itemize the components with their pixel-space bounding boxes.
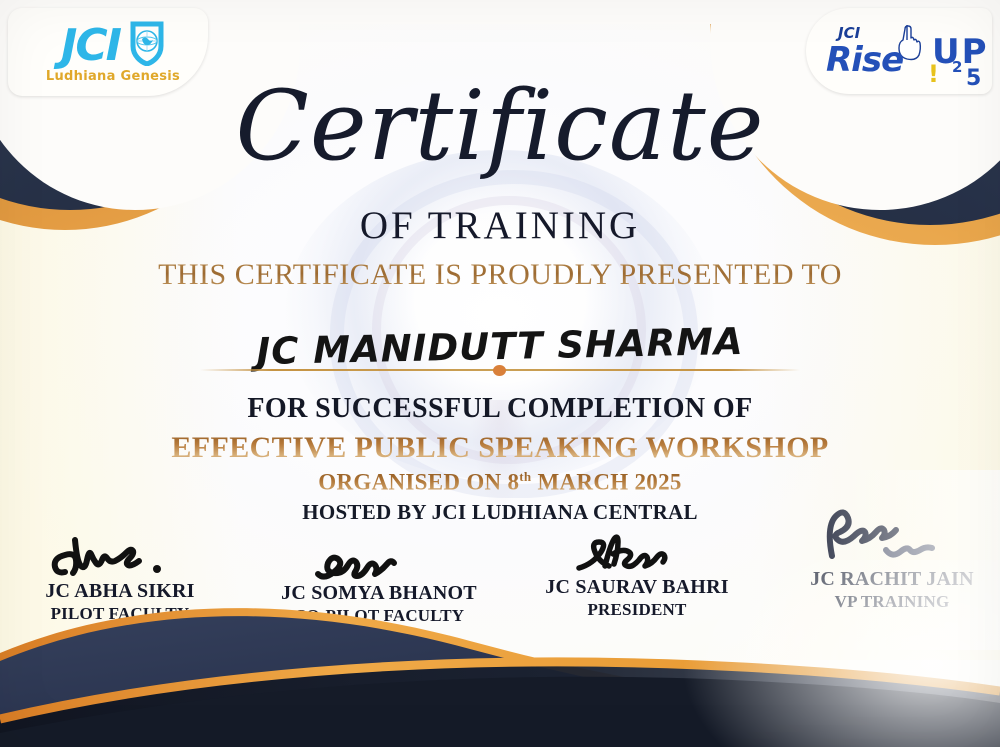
- organised-date-line: ORGANISED ON 8th MARCH 2025: [0, 469, 1000, 496]
- signature-mark-rachit-jain: [802, 502, 982, 568]
- organised-date-ordinal: th: [519, 469, 531, 484]
- completion-line: FOR SUCCESSFUL COMPLETION OF: [0, 393, 1000, 425]
- jci-shield-icon: [129, 20, 165, 71]
- certificate-title: Certificate: [0, 78, 1000, 174]
- organised-date-suffix: MARCH 2025: [531, 470, 681, 495]
- rise-wordmark: Rise: [826, 40, 903, 80]
- jci-wordmark: JCI: [61, 25, 120, 67]
- year-digit-top: 2: [952, 58, 962, 76]
- workshop-title: EFFECTIVE PUBLIC SPEAKING WORKSHOP: [0, 431, 1000, 465]
- presented-to-line: THIS CERTIFICATE IS PROUDLY PRESENTED TO: [0, 258, 1000, 292]
- certificate-subtitle: OF TRAINING: [0, 203, 1000, 248]
- bottom-wave-ornament: [0, 567, 1000, 747]
- jci-genesis-logo: JCI Ludhiana Genesis: [28, 20, 198, 84]
- top-center-band: [170, 0, 820, 24]
- certificate-document: JCI Ludhiana Genesis JCI Rise UP ! 2: [0, 0, 1000, 747]
- organised-date-prefix: ORGANISED ON 8: [318, 470, 519, 495]
- recipient-name-dot: [493, 365, 506, 376]
